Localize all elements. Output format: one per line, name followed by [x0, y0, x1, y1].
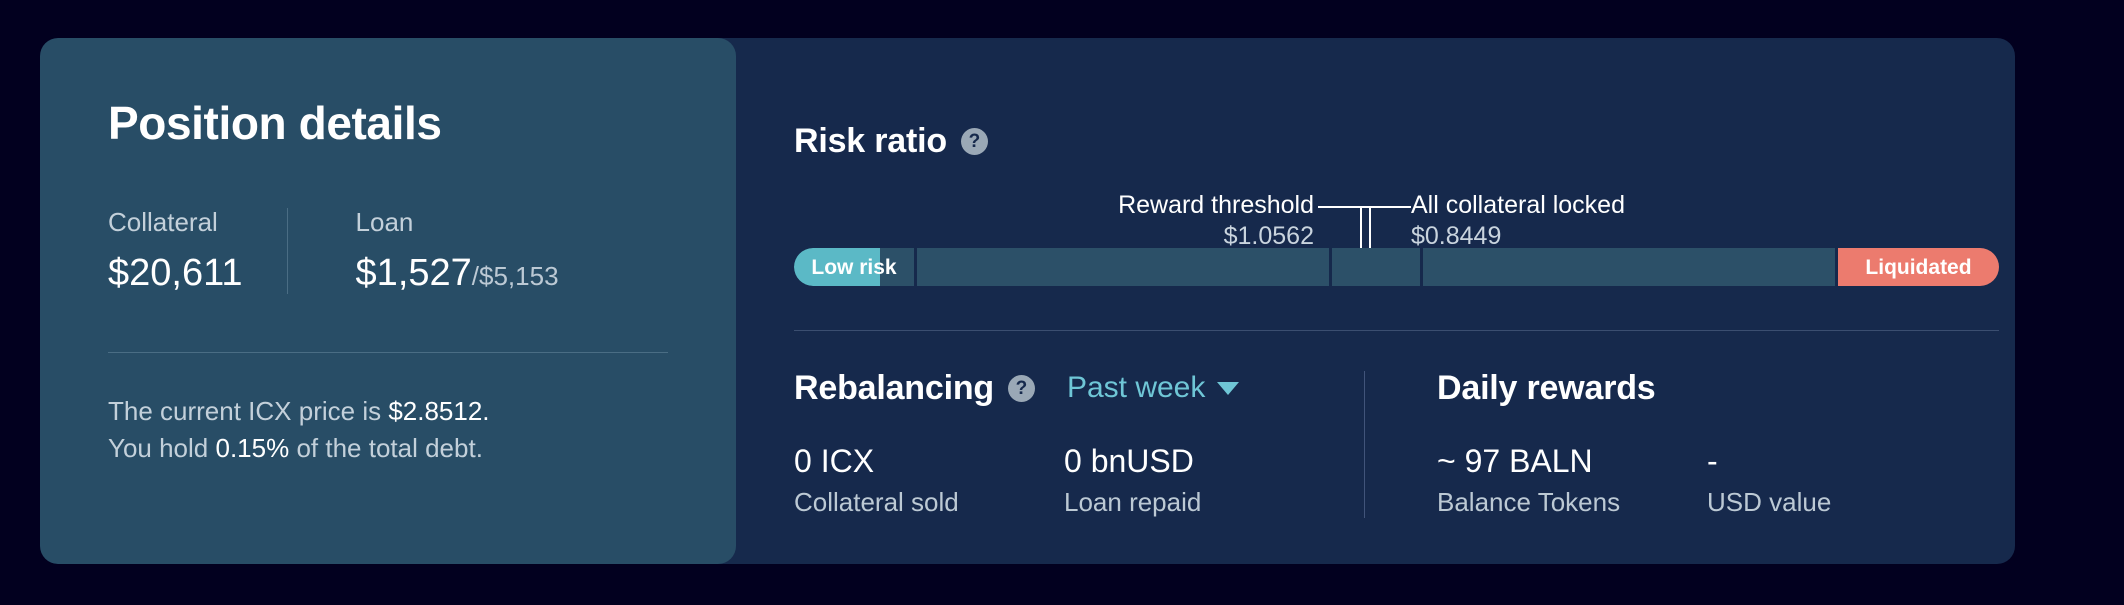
- question-mark-icon[interactable]: ?: [961, 128, 988, 155]
- usd-value-label: USD value: [1707, 488, 1999, 518]
- note-price-prefix: The current ICX price is: [108, 396, 388, 426]
- all-collateral-locked-callout: All collateral locked $0.8449: [1411, 190, 1625, 253]
- risk-ratio-header: Risk ratio ?: [794, 124, 1999, 158]
- position-panel: Position details Collateral $20,611 Loan…: [40, 38, 2015, 564]
- risk-bar-segment-a: [917, 248, 1329, 286]
- note-line-price: The current ICX price is $2.8512.: [108, 393, 674, 430]
- collateral-stat: Collateral $20,611: [108, 208, 287, 294]
- collateral-label: Collateral: [108, 208, 243, 237]
- daily-rewards-title: Daily rewards: [1437, 371, 1656, 405]
- liquidated-label: Liquidated: [1865, 257, 1971, 278]
- loan-value-group: $1,527/$5,153: [356, 253, 559, 295]
- rebalancing-title: Rebalancing: [794, 371, 994, 405]
- app-root: Position details Collateral $20,611 Loan…: [0, 0, 2124, 605]
- section-divider: [794, 330, 1999, 331]
- collateral-sold-value: 0 ICX: [794, 443, 1064, 480]
- rebalancing-header: Rebalancing ? Past week: [794, 371, 1364, 405]
- rebalancing-section: Rebalancing ? Past week 0 ICX Collateral…: [794, 371, 1364, 518]
- loan-repaid-metric: 0 bnUSD Loan repaid: [1064, 443, 1364, 518]
- balance-tokens-value: ~ 97 BALN: [1437, 443, 1707, 480]
- position-details-card: Position details Collateral $20,611 Loan…: [40, 38, 736, 564]
- balance-tokens-metric: ~ 97 BALN Balance Tokens: [1437, 443, 1707, 518]
- question-mark-icon[interactable]: ?: [1008, 375, 1035, 402]
- note-price-value: $2.8512.: [388, 396, 489, 426]
- detail-side: Risk ratio ? Reward threshold $1.0562 Al…: [736, 38, 2015, 564]
- risk-bar-segment-b: [1332, 248, 1420, 286]
- loan-label: Loan: [356, 208, 559, 237]
- position-notes: The current ICX price is $2.8512. You ho…: [108, 393, 674, 467]
- loan-repaid-value: 0 bnUSD: [1064, 443, 1364, 480]
- risk-bar-segment-liquidated: Liquidated: [1838, 248, 1999, 286]
- note-line-debt: You hold 0.15% of the total debt.: [108, 430, 674, 467]
- chevron-down-icon: [1217, 382, 1239, 395]
- loan-separator: /: [472, 261, 479, 291]
- note-debt-value: 0.15%: [215, 433, 289, 463]
- note-debt-suffix: of the total debt.: [289, 433, 483, 463]
- all-collateral-locked-label: All collateral locked: [1411, 191, 1625, 219]
- daily-rewards-header: Daily rewards: [1437, 371, 1999, 405]
- usd-value-metric: - USD value: [1707, 443, 1999, 518]
- loan-limit: $5,153: [479, 261, 559, 291]
- rebalancing-metrics: 0 ICX Collateral sold 0 bnUSD Loan repai…: [794, 443, 1364, 518]
- position-stat-row: Collateral $20,611 Loan $1,527/$5,153: [108, 208, 674, 294]
- loan-stat: Loan $1,527/$5,153: [287, 208, 559, 294]
- loan-repaid-label: Loan repaid: [1064, 488, 1364, 518]
- low-risk-label: Low risk: [794, 248, 914, 286]
- usd-value-value: -: [1707, 443, 1999, 480]
- risk-bar-segment-c: [1423, 248, 1835, 286]
- time-range-dropdown[interactable]: Past week: [1067, 373, 1239, 403]
- risk-bar[interactable]: Low risk Liquidated: [794, 248, 1999, 286]
- bottom-row: Rebalancing ? Past week 0 ICX Collateral…: [794, 371, 1999, 518]
- card-divider: [108, 352, 668, 353]
- all-collateral-locked-leader-horizontal: [1360, 206, 1411, 208]
- collateral-value: $20,611: [108, 253, 243, 295]
- reward-threshold-callout: Reward threshold $1.0562: [1074, 190, 1314, 253]
- page-title: Position details: [108, 100, 674, 146]
- daily-rewards-metrics: ~ 97 BALN Balance Tokens - USD value: [1437, 443, 1999, 518]
- reward-threshold-label: Reward threshold: [1118, 191, 1314, 219]
- balance-tokens-label: Balance Tokens: [1437, 488, 1707, 518]
- daily-rewards-section: Daily rewards ~ 97 BALN Balance Tokens -…: [1364, 371, 1999, 518]
- risk-ratio-title: Risk ratio: [794, 124, 947, 158]
- risk-ratio-meter: Reward threshold $1.0562 All collateral …: [794, 190, 1999, 286]
- collateral-sold-label: Collateral sold: [794, 488, 1064, 518]
- loan-value: $1,527: [356, 252, 472, 294]
- collateral-sold-metric: 0 ICX Collateral sold: [794, 443, 1064, 518]
- risk-bar-segment-low: Low risk: [794, 248, 914, 286]
- time-range-value: Past week: [1067, 373, 1205, 403]
- note-debt-prefix: You hold: [108, 433, 215, 463]
